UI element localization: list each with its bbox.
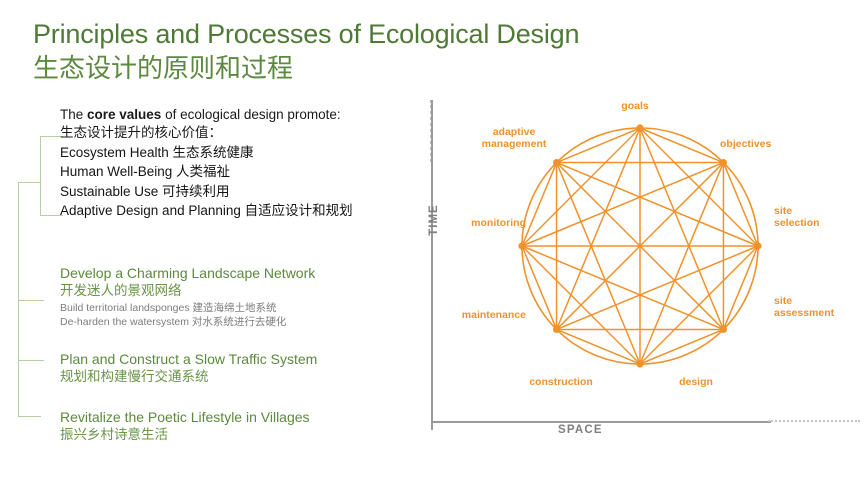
intro-line-english: The core values of ecological design pro… xyxy=(60,106,430,124)
node-label-goals: goals xyxy=(600,100,670,112)
content-column: The core values of ecological design pro… xyxy=(60,106,430,221)
node-label-monitoring: monitoring xyxy=(452,217,526,229)
intro-line-chinese: 生态设计提升的核心价值： xyxy=(60,124,430,142)
bracket-tick-section-2 xyxy=(18,360,44,361)
list-item: Ecosystem Health 生态系统健康 xyxy=(60,143,430,163)
section-title-chinese: 开发迷人的景观网络 xyxy=(60,282,440,300)
bracket-tick-section-1 xyxy=(18,300,44,301)
node-label-construction: construction xyxy=(518,376,604,388)
section-title-chinese: 规划和构建慢行交通系统 xyxy=(60,368,440,386)
node-label-maintenance: maintenance xyxy=(448,309,526,321)
title-english: Principles and Processes of Ecological D… xyxy=(33,18,579,50)
list-item: Sustainable Use 可持续利用 xyxy=(60,182,430,202)
intro-suffix: of ecological design promote: xyxy=(161,107,340,122)
graph-node xyxy=(636,124,643,131)
section-poetic-lifestyle: Revitalize the Poetic Lifestyle in Villa… xyxy=(60,408,440,444)
node-label-adaptive-management: adaptive management xyxy=(466,126,562,150)
section-title-english: Plan and Construct a Slow Traffic System xyxy=(60,350,440,368)
list-item: Human Well-Being 人类福祉 xyxy=(60,162,430,182)
page-title: Principles and Processes of Ecological D… xyxy=(33,18,579,84)
section-landscape-network: Develop a Charming Landscape Network 开发迷… xyxy=(60,264,440,329)
graph-node xyxy=(720,326,727,333)
graph-node xyxy=(518,242,525,249)
graph-node xyxy=(553,326,560,333)
graph-node xyxy=(553,159,560,166)
list-item: Adaptive Design and Planning 自适应设计和规划 xyxy=(60,201,430,221)
section-subitem: Build territorial landsponges 建造海绵土地系统 xyxy=(60,302,440,316)
title-chinese: 生态设计的原则和过程 xyxy=(33,52,579,84)
node-label-design: design xyxy=(666,376,726,388)
graph-node xyxy=(754,242,761,249)
slide: Principles and Processes of Ecological D… xyxy=(0,0,865,487)
graph-node xyxy=(636,360,643,367)
node-label-objectives: objectives xyxy=(720,138,800,150)
intro-bold: core values xyxy=(87,107,161,122)
node-label-site-assessment: site assessment xyxy=(774,295,856,319)
section-title-english: Revitalize the Poetic Lifestyle in Villa… xyxy=(60,408,440,426)
section-title-english: Develop a Charming Landscape Network xyxy=(60,264,440,282)
graph-node xyxy=(720,159,727,166)
node-label-site-selection: site selection xyxy=(774,205,850,229)
section-slow-traffic: Plan and Construct a Slow Traffic System… xyxy=(60,350,440,386)
section-title-chinese: 振兴乡村诗意生活 xyxy=(60,426,440,444)
intro-prefix: The xyxy=(60,107,87,122)
section-subitem: De-harden the watersystem 对水系统进行去硬化 xyxy=(60,316,440,330)
ecological-design-cycle-diagram: TIME SPACE goals objectives site selecti… xyxy=(408,96,865,446)
core-values-list: Ecosystem Health 生态系统健康 Human Well-Being… xyxy=(60,143,430,221)
